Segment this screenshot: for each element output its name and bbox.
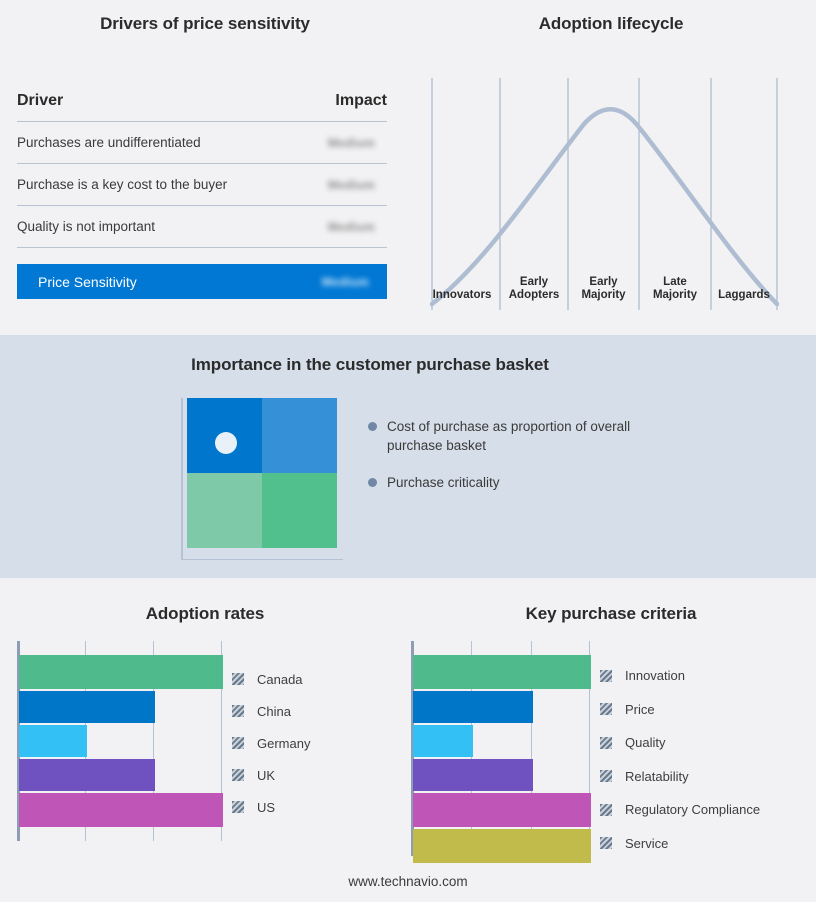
footer-url: www.technavio.com xyxy=(0,874,816,889)
legend-item: China xyxy=(232,695,402,727)
bar-canada xyxy=(19,655,223,689)
legend-swatch-icon xyxy=(232,737,244,749)
legend-item: Innovation xyxy=(600,659,810,693)
bar-innovation xyxy=(413,655,591,689)
matrix-legend-label: Purchase criticality xyxy=(387,473,500,492)
legend-item: Service xyxy=(600,827,810,861)
legend-item: US xyxy=(232,791,402,823)
legend-item: Regulatory Compliance xyxy=(600,793,810,827)
matrix-quadrant-bottom-left xyxy=(187,473,262,548)
bar-us xyxy=(19,793,223,827)
stage-label-innovators: Innovators xyxy=(424,289,500,302)
drivers-table: Driver Impact Purchases are undifferenti… xyxy=(17,92,387,299)
legend-swatch-icon xyxy=(600,703,612,715)
stage-label-line1: Early xyxy=(589,276,617,288)
legend-item: Germany xyxy=(232,727,402,759)
bar-quality xyxy=(413,725,473,757)
importance-title: Importance in the customer purchase bask… xyxy=(0,355,740,375)
impact-value: Medium xyxy=(328,178,387,192)
drivers-table-header: Driver Impact xyxy=(17,92,387,122)
bar-regulatory-compliance xyxy=(413,793,591,827)
driver-label: Purchases are undifferentiated xyxy=(17,135,201,150)
bar-price xyxy=(413,691,533,723)
matrix-x-axis xyxy=(181,559,343,561)
matrix-quadrant-bottom-right xyxy=(262,473,337,548)
stage-label-line2: Majority xyxy=(581,289,625,301)
matrix-legend-label: Cost of purchase as proportion of overal… xyxy=(387,417,668,455)
bar-service xyxy=(413,829,591,863)
key-purchase-criteria-title: Key purchase criteria xyxy=(406,604,816,624)
stage-label-line1: Early xyxy=(520,276,548,288)
bars-group xyxy=(413,641,591,856)
matrix-legend: Cost of purchase as proportion of overal… xyxy=(368,417,668,510)
stage-label-line2: Adopters xyxy=(509,289,559,301)
legend-item: Canada xyxy=(232,663,402,695)
legend-item: UK xyxy=(232,759,402,791)
legend-swatch-icon xyxy=(232,801,244,813)
legend-swatch-icon xyxy=(600,737,612,749)
legend-label: Quality xyxy=(625,735,665,750)
impact-value: Medium xyxy=(328,136,387,150)
legend-item: Relatability xyxy=(600,760,810,794)
legend-label: Regulatory Compliance xyxy=(625,802,760,817)
legend-label: China xyxy=(257,704,291,719)
key-purchase-criteria-chart xyxy=(411,641,591,856)
bars-group xyxy=(19,641,223,841)
stage-label-line1: Late xyxy=(663,276,687,288)
bar-uk xyxy=(19,759,155,791)
column-header-driver: Driver xyxy=(17,92,63,110)
legend-label: Canada xyxy=(257,672,303,687)
legend-label: US xyxy=(257,800,275,815)
bullet-icon xyxy=(368,422,377,431)
matrix-quadrant-top-left xyxy=(187,398,262,473)
column-header-impact: Impact xyxy=(335,92,387,110)
matrix-quadrant-top-right xyxy=(262,398,337,473)
legend-item: Quality xyxy=(600,726,810,760)
legend-label: Price xyxy=(625,702,655,717)
matrix-y-axis xyxy=(181,398,183,560)
legend-swatch-icon xyxy=(600,670,612,682)
lifecycle-stage-labels: Innovators Early Adopters Early Majority… xyxy=(424,270,790,312)
stage-label-early-adopters: Early Adopters xyxy=(500,276,568,302)
legend-swatch-icon xyxy=(232,705,244,717)
bar-germany xyxy=(19,725,87,757)
infographic-root: Drivers of price sensitivity Driver Impa… xyxy=(0,0,816,902)
driver-label: Purchase is a key cost to the buyer xyxy=(17,177,227,192)
summary-impact-value: Medium xyxy=(322,275,369,289)
purchase-basket-matrix xyxy=(181,398,343,560)
table-row: Purchase is a key cost to the buyer Medi… xyxy=(17,164,387,206)
table-row: Purchases are undifferentiated Medium xyxy=(17,122,387,164)
matrix-position-dot xyxy=(215,432,237,454)
stage-label-late-majority: Late Majority xyxy=(639,276,711,302)
adoption-rates-title: Adoption rates xyxy=(0,604,410,624)
table-row: Quality is not important Medium xyxy=(17,206,387,248)
stage-label-line1: Innovators xyxy=(433,289,492,301)
stage-label-line1: Laggards xyxy=(718,289,770,301)
plot-area xyxy=(411,641,591,856)
list-item: Cost of purchase as proportion of overal… xyxy=(368,417,668,455)
lifecycle-title: Adoption lifecycle xyxy=(406,14,816,34)
price-sensitivity-summary-row: Price Sensitivity Medium xyxy=(17,264,387,299)
legend-label: UK xyxy=(257,768,275,783)
bar-china xyxy=(19,691,155,723)
adoption-rates-chart xyxy=(17,641,223,841)
bar-relatability xyxy=(413,759,533,791)
legend-swatch-icon xyxy=(232,769,244,781)
legend-label: Innovation xyxy=(625,668,685,683)
plot-area xyxy=(17,641,223,841)
stage-label-line2: Majority xyxy=(653,289,697,301)
matrix-grid xyxy=(187,398,337,548)
legend-label: Service xyxy=(625,836,668,851)
driver-label: Quality is not important xyxy=(17,219,155,234)
legend-label: Germany xyxy=(257,736,310,751)
impact-value: Medium xyxy=(328,220,387,234)
stage-label-laggards: Laggards xyxy=(711,289,777,302)
legend-swatch-icon xyxy=(600,804,612,816)
drivers-title: Drivers of price sensitivity xyxy=(0,14,410,34)
summary-label: Price Sensitivity xyxy=(38,274,137,290)
legend-label: Relatability xyxy=(625,769,689,784)
stage-label-early-majority: Early Majority xyxy=(568,276,639,302)
legend-swatch-icon xyxy=(600,837,612,849)
adoption-rates-legend: Canada China Germany UK US xyxy=(232,663,402,823)
legend-swatch-icon xyxy=(232,673,244,685)
bullet-icon xyxy=(368,478,377,487)
key-purchase-criteria-legend: Innovation Price Quality Relatability Re… xyxy=(600,659,810,860)
legend-swatch-icon xyxy=(600,770,612,782)
list-item: Purchase criticality xyxy=(368,473,668,492)
legend-item: Price xyxy=(600,693,810,727)
